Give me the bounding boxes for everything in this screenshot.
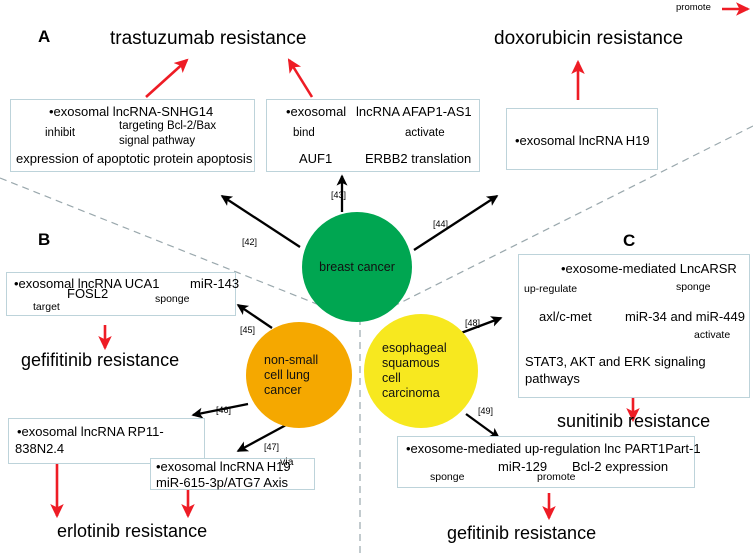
text-exosome-mediated-lncarsr: •exosome-mediated LncARSR [561, 261, 737, 276]
arrow-ref-49 [466, 414, 499, 438]
text-target: target [33, 301, 60, 313]
arrow-ref-42 [222, 196, 300, 247]
text-mir-143: miR-143 [190, 276, 239, 291]
text-auf1: AUF1 [299, 151, 332, 166]
cancer-circle-escc[interactable]: esophageal squamous cell carcinoma [364, 314, 478, 428]
reference-48[interactable]: [48] [465, 318, 480, 328]
text-exosomal-lncrna-rp11: •exosomal lncRNA RP11- [17, 424, 164, 439]
reference-47[interactable]: [47] [264, 442, 279, 452]
text-mir34-mir449: miR-34 and miR-449 [625, 309, 745, 324]
text-activate: activate [405, 127, 445, 139]
text-exosomal-lncrna-h19: •exosomal lncRNA H19 [515, 133, 650, 148]
text-via: via [280, 456, 293, 468]
arrow-ref-44 [414, 196, 497, 250]
panel-letter-a: A [38, 27, 50, 47]
text-exosome-mediated-part1: •exosome-mediated up-regulation lnc PART… [406, 441, 701, 456]
text-838n24: 838N2.4 [15, 441, 64, 456]
arrow-to-trastuzumab-right [289, 60, 312, 97]
panel-letter-b: B [38, 230, 50, 250]
text-expression-apoptotic-protein: expression of apoptotic protein apoptosi… [16, 151, 252, 166]
outcome-gefifitinib-resistance: gefifitinib resistance [21, 350, 179, 371]
panel-letter-c: C [623, 231, 635, 251]
text-exosomal: •exosomal [286, 104, 346, 119]
cancer-label-nsclc: non-small cell lung cancer [264, 353, 318, 398]
text-pathways: pathways [525, 371, 580, 386]
text-mir615-atg7-axis: miR-615-3p/ATG7 Axis [156, 475, 288, 490]
panel-a-box-afap1as1: •exosomal lncRNA AFAP1-AS1 bind activate… [266, 99, 480, 172]
panel-b-box-uca1: •exosomal lncRNA UCA1 sponge miR-143 tar… [6, 272, 236, 316]
outcome-gefitinib-resistance: gefitinib resistance [447, 523, 596, 544]
text-targeting-bcl2-bax: targeting Bcl-2/Bax [119, 120, 216, 132]
outcome-doxorubicin-resistance: doxorubicin resistance [494, 28, 683, 50]
text-bind: bind [293, 127, 315, 139]
panel-c-box-part1: •exosome-mediated up-regulation lnc PART… [397, 436, 695, 488]
text-sponge-c: sponge [676, 281, 710, 293]
text-up-regulate: up-regulate [524, 283, 577, 295]
text-lncrna-afap1-as1: lncRNA AFAP1-AS1 [356, 104, 472, 119]
text-axl-c-met: axl/c-met [539, 309, 592, 324]
text-inhibit: inhibit [45, 127, 75, 139]
cancer-circle-breast-cancer[interactable]: breast cancer [302, 212, 412, 322]
reference-43[interactable]: [43] [331, 190, 346, 200]
outcome-sunitinib-resistance: sunitinib resistance [557, 411, 710, 432]
text-sponge-c2: sponge [430, 471, 464, 483]
cancer-label-escc: esophageal squamous cell carcinoma [382, 341, 447, 401]
cancer-circle-nsclc[interactable]: non-small cell lung cancer [246, 322, 352, 428]
text-signal-pathway: signal pathway [119, 135, 195, 147]
reference-44[interactable]: [44] [433, 219, 448, 229]
arrow-to-trastuzumab-left [146, 60, 187, 97]
panel-a-box-snhg14: •exosomal lncRNA-SNHG14 inhibit targetin… [10, 99, 255, 172]
legend-promote-label: promote [676, 2, 711, 13]
panel-c-box-lncarsr: •exosome-mediated LncARSR up-regulate sp… [518, 254, 750, 398]
outcome-erlotinib-resistance: erlotinib resistance [57, 521, 207, 542]
text-stat3-akt-erk: STAT3, AKT and ERK signaling [525, 354, 706, 369]
panel-a-box-h19: •exosomal lncRNA H19 [506, 108, 658, 170]
text-sponge-b: sponge [155, 293, 189, 305]
text-fosl2: FOSL2 [67, 286, 108, 301]
cancer-label-breast-cancer: breast cancer [319, 260, 395, 275]
reference-49[interactable]: [49] [478, 406, 493, 416]
outcome-trastuzumab-resistance: trastuzumab resistance [110, 28, 306, 50]
text-erbb2-translation: ERBB2 translation [365, 151, 471, 166]
text-activate-c: activate [694, 329, 730, 341]
panel-b-box-h19-axis: •exosomal lncRNA H19 via miR-615-3p/ATG7… [150, 458, 315, 490]
figure-canvas: promote A trastuzumab resistance doxorub… [0, 0, 753, 553]
reference-42[interactable]: [42] [242, 237, 257, 247]
text-bcl2-expression: Bcl-2 expression [572, 459, 668, 474]
text-exosomal-lncrna-snhg14: •exosomal lncRNA-SNHG14 [49, 104, 213, 119]
text-promote-c: promote [537, 471, 576, 483]
reference-46[interactable]: [46] [216, 405, 231, 415]
reference-45[interactable]: [45] [240, 325, 255, 335]
text-exosomal-lncrna-h19-b: •exosomal lncRNA H19 [156, 459, 291, 474]
